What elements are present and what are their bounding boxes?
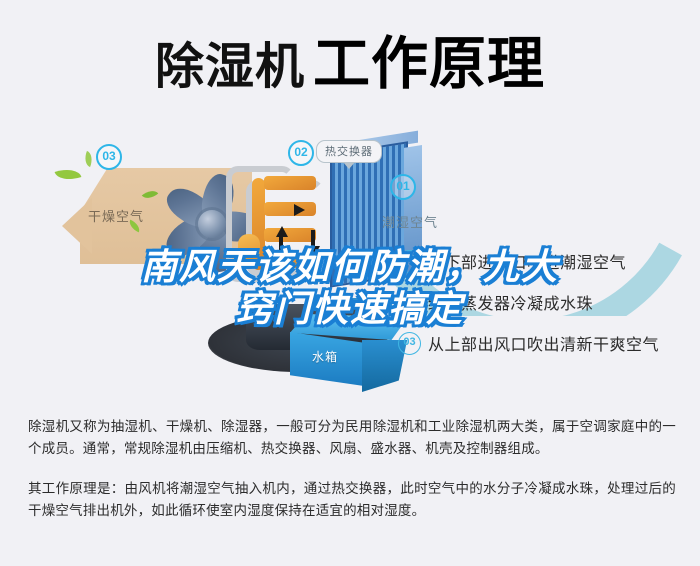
diagram-marker-01: 01	[390, 174, 416, 200]
diagram-marker-02: 02	[288, 140, 314, 166]
infographic-page: 除湿机工作原理 干燥空气	[0, 0, 700, 566]
step-list: 01 从下部进风口吸进潮湿空气 02 经过蒸发器冷凝成水珠 03 从上部出风口吹…	[398, 246, 698, 369]
page-title-part2: 工作原理	[313, 32, 545, 96]
heat-exchanger-callout: 热交换器	[316, 140, 382, 163]
list-item: 03 从上部出风口吹出清新干爽空气	[398, 328, 698, 358]
humid-air-label: 潮湿空气	[382, 212, 438, 231]
step-text: 经过蒸发器冷凝成水珠	[428, 290, 593, 314]
body-paragraph-2: 其工作原理是：由风机将潮湿空气抽入机内，通过热交换器，此时空气中的水分子冷凝成水…	[28, 478, 676, 522]
diagram-marker-03: 03	[96, 144, 122, 170]
page-title-part1: 除湿机	[155, 40, 305, 94]
water-tank-label: 水箱	[312, 348, 338, 365]
body-copy: 除湿机又称为抽湿机、干燥机、除湿器，一般可分为民用除湿机和工业除湿机两大类，属于…	[28, 416, 676, 522]
body-paragraph-1: 除湿机又称为抽湿机、干燥机、除湿器，一般可分为民用除湿机和工业除湿机两大类，属于…	[28, 416, 676, 460]
step-text: 从上部出风口吹出清新干爽空气	[428, 331, 659, 355]
list-item: 02 经过蒸发器冷凝成水珠	[398, 287, 698, 317]
step-text: 从下部进风口吸进潮湿空气	[428, 249, 626, 273]
water-tank-icon: 水箱	[290, 314, 408, 392]
step-number: 03	[398, 332, 421, 355]
page-title: 除湿机工作原理	[0, 18, 700, 100]
step-number: 01	[398, 250, 421, 273]
compressor-coils-icon	[222, 162, 340, 288]
step-number: 02	[398, 291, 421, 314]
list-item: 01 从下部进风口吸进潮湿空气	[398, 246, 698, 276]
